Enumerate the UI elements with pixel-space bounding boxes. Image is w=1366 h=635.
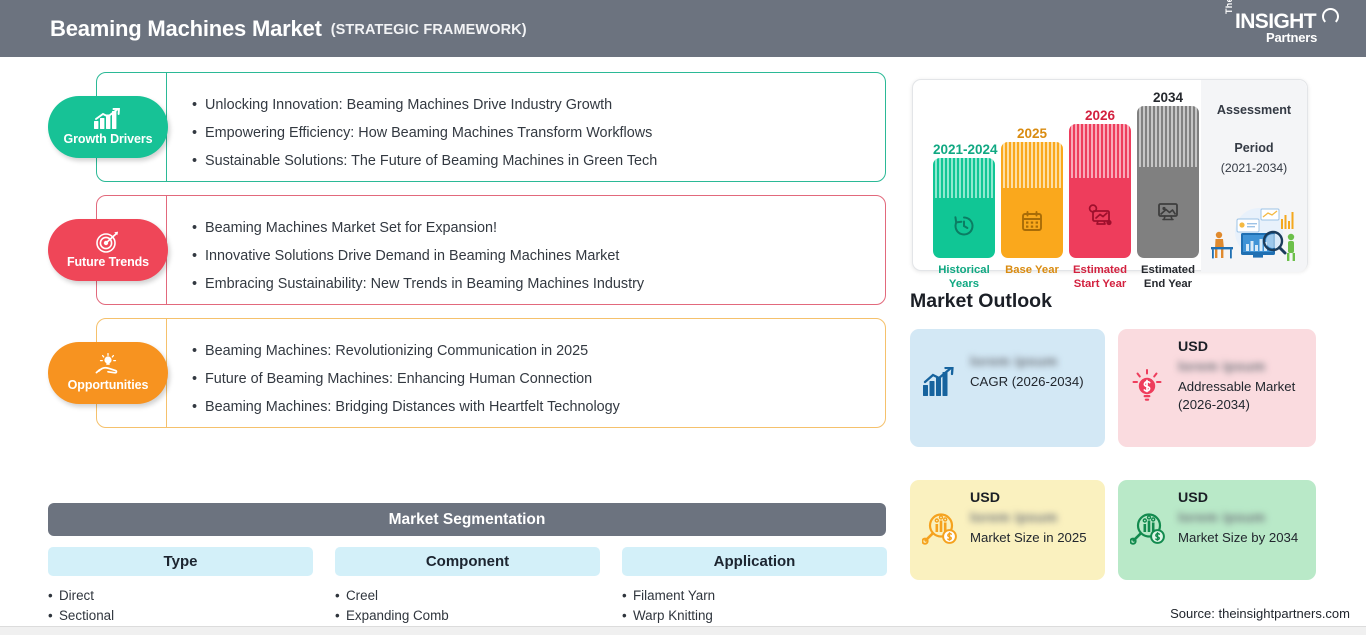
- opportunities-bullets: Beaming Machines: Revolutionizing Commun…: [192, 337, 620, 422]
- timeline-label: Historical Years: [927, 264, 1001, 291]
- page-header: Beaming Machines Market (STRATEGIC FRAME…: [0, 0, 1366, 57]
- timeline-year: 2021-2024: [933, 142, 995, 157]
- right-column: 2021-2024: [900, 57, 1366, 635]
- left-column: Growth Drivers Unlocking Innovation: Bea…: [0, 57, 900, 635]
- target-dart-icon: [95, 231, 121, 253]
- footer-divider: [0, 626, 1366, 635]
- segmentation-column-type: Type Direct Sectional: [48, 547, 313, 626]
- card-caption: Market Size by 2034: [1178, 529, 1304, 547]
- timeline-label: Base Year: [995, 264, 1069, 278]
- market-segmentation-title: Market Segmentation: [48, 503, 886, 536]
- badge-future-trends-label: Future Trends: [67, 255, 149, 269]
- card-addressable-market[interactable]: USD lorem ipsum Addressable Market (2026…: [1118, 329, 1316, 447]
- bullet-item: Beaming Machines Market Set for Expansio…: [192, 214, 644, 242]
- timeline-year: 2025: [1001, 126, 1063, 141]
- segmentation-header: Type: [48, 547, 313, 576]
- bar-chart-arrow-icon: [922, 367, 956, 402]
- page-title: Beaming Machines Market: [50, 16, 322, 42]
- timeline-bar-solid: [1137, 167, 1199, 258]
- timeline-bar-stripe: [1137, 106, 1199, 167]
- card-usd-label: USD: [1178, 490, 1304, 506]
- insight-partners-logo: The INSIGHT Partners: [1224, 8, 1348, 50]
- card-caption: Market Size in 2025: [970, 529, 1093, 547]
- timeline-bar: [1001, 142, 1063, 258]
- segmentation-header: Application: [622, 547, 887, 576]
- bullet-item: Unlocking Innovation: Beaming Machines D…: [192, 91, 657, 119]
- badge-growth-drivers[interactable]: Growth Drivers: [48, 96, 168, 158]
- timeline-bars: 2021-2024: [913, 80, 1203, 272]
- bullet-item: Embracing Sustainability: New Trends in …: [192, 270, 644, 298]
- bullet-item: Innovative Solutions Drive Demand in Bea…: [192, 242, 644, 270]
- list-item: Warp Knitting: [622, 606, 887, 626]
- card-market-size-2025[interactable]: USD lorem ipsum Market Size in 2025: [910, 480, 1105, 580]
- bullet-item: Future of Beaming Machines: Enhancing Hu…: [192, 365, 620, 393]
- timeline-bar-stripe: [1001, 142, 1063, 188]
- bullet-item: Beaming Machines: Revolutionizing Commun…: [192, 337, 620, 365]
- badge-opportunities[interactable]: Opportunities: [48, 342, 168, 404]
- logo-partners-text: Partners: [1266, 30, 1317, 45]
- timeline-bar-stripe: [1069, 124, 1131, 178]
- timeline-bar-solid: [1069, 178, 1131, 258]
- list-item: Sectional: [48, 606, 313, 626]
- infographic-page: Beaming Machines Market (STRATEGIC FRAME…: [0, 0, 1366, 635]
- assessment-period-panel: Assessment Period (2021-2034): [1201, 80, 1307, 272]
- segmentation-column-application: Application Filament Yarn Warp Knitting …: [622, 547, 887, 635]
- logo-the-text: The: [1224, 0, 1234, 14]
- card-caption: CAGR (2026-2034): [970, 373, 1093, 391]
- card-cagr[interactable]: lorem ipsum CAGR (2026-2034): [910, 329, 1105, 447]
- logo-circle-icon: [1322, 8, 1339, 25]
- assessment-period-range: (2021-2034): [1221, 161, 1287, 175]
- timeline-bar: [1069, 124, 1131, 258]
- card-value: lorem ipsum: [1178, 358, 1304, 374]
- analytics-dashboard-illustration: [1207, 199, 1303, 268]
- bullet-item: Sustainable Solutions: The Future of Bea…: [192, 147, 657, 175]
- timeline-bar-solid: [933, 198, 995, 258]
- card-value: lorem ipsum: [970, 353, 1093, 369]
- bullet-item: Empowering Efficiency: How Beaming Machi…: [192, 119, 657, 147]
- page-subtitle: (STRATEGIC FRAMEWORK): [331, 22, 527, 38]
- timeline-bar-solid: [1001, 188, 1063, 258]
- clock-history-icon: [952, 214, 976, 243]
- segmentation-column-component: Component Creel Expanding Comb Pressure …: [335, 547, 600, 635]
- forecast-chart-icon: [1087, 203, 1113, 232]
- list-item: Direct: [48, 586, 313, 606]
- card-usd-label: USD: [970, 490, 1093, 506]
- lightbulb-dollar-icon: [1130, 369, 1164, 408]
- calendar-icon: [1020, 209, 1044, 238]
- list-item: Filament Yarn: [622, 586, 887, 606]
- magnifier-chart-dollar-icon: [922, 512, 958, 551]
- assessment-period-title-line1: Assessment: [1217, 102, 1291, 118]
- bar-chart-growth-icon: [93, 108, 123, 130]
- assessment-timeline-panel: 2021-2024: [912, 79, 1308, 271]
- badge-future-trends[interactable]: Future Trends: [48, 219, 168, 281]
- card-market-size-2034[interactable]: USD lorem ipsum Market Size by 2034: [1118, 480, 1316, 580]
- timeline-year: 2034: [1137, 90, 1199, 105]
- card-usd-label: USD: [1178, 339, 1304, 355]
- future-trends-bullets: Beaming Machines Market Set for Expansio…: [192, 214, 644, 299]
- card-value: lorem ipsum: [970, 509, 1093, 525]
- list-item: Creel: [335, 586, 600, 606]
- bullet-item: Beaming Machines: Bridging Distances wit…: [192, 393, 620, 421]
- segmentation-header: Component: [335, 547, 600, 576]
- timeline-label: Estimated End Year: [1131, 264, 1205, 291]
- timeline-year: 2026: [1069, 108, 1131, 123]
- badge-growth-drivers-label: Growth Drivers: [64, 132, 153, 146]
- magnifier-chart-dollar-icon: [1130, 512, 1166, 551]
- card-caption: Addressable Market (2026-2034): [1178, 378, 1304, 414]
- timeline-bar: [1137, 106, 1199, 258]
- list-item: Expanding Comb: [335, 606, 600, 626]
- image-chart-icon: [1155, 198, 1181, 227]
- lightbulb-hand-icon: [93, 354, 123, 376]
- badge-opportunities-label: Opportunities: [68, 378, 149, 392]
- source-label: Source: theinsightpartners.com: [1170, 606, 1350, 621]
- assessment-period-title-line2: Period: [1234, 140, 1273, 156]
- timeline-label: Estimated Start Year: [1063, 264, 1137, 291]
- segmentation-list: Direct Sectional: [48, 586, 313, 626]
- market-outlook-title: Market Outlook: [910, 290, 1052, 313]
- card-value: lorem ipsum: [1178, 509, 1304, 525]
- timeline-bar-stripe: [933, 158, 995, 198]
- growth-drivers-bullets: Unlocking Innovation: Beaming Machines D…: [192, 91, 657, 176]
- timeline-bar: [933, 158, 995, 258]
